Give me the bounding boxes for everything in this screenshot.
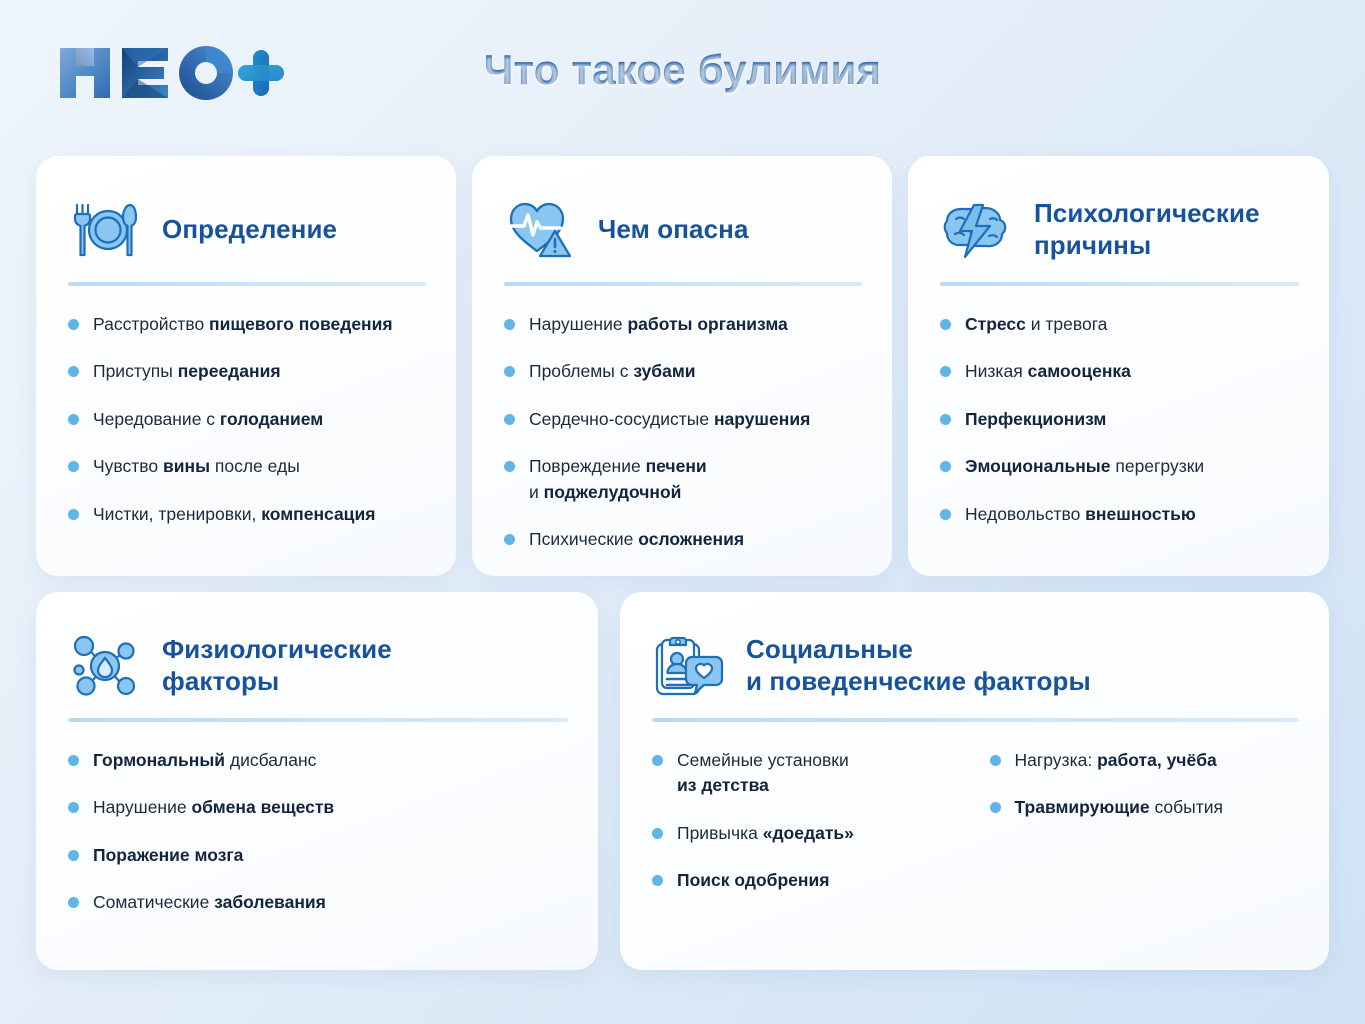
list-item: Перфекционизм [940,407,1303,432]
list-item: Эмоциональные перегрузки [940,454,1303,479]
bullet-dot-icon [990,755,1001,766]
list-item-label: Проблемы с зубами [529,359,696,384]
list-item: Нагрузка: работа, учёба [990,748,1300,773]
bullet-dot-icon [940,319,951,330]
list-item-label: Психические осложнения [529,527,744,552]
bullet-dot-icon [68,414,79,425]
bullet-list: Гормональный дисбалансНарушение обмена в… [36,722,598,916]
bullet-dot-icon [940,414,951,425]
bullet-dot-icon [68,802,79,813]
card-title: Социальныеи поведенческие факторы [746,634,1091,697]
list-item-label: Поиск одобрения [677,868,829,893]
bullet-dot-icon [504,414,515,425]
card-title: Чем опасна [598,214,749,246]
molecule-hormone-icon [68,634,142,698]
list-item-label: Чередование с голоданием [93,407,323,432]
list-item: Поражение мозга [68,843,572,868]
list-item-label: Приступы переедания [93,359,281,384]
list-item-label: Нарушение работы организма [529,312,788,337]
bullet-dot-icon [504,319,515,330]
list-item: Низкая самооценка [940,359,1303,384]
bullet-dot-icon [504,366,515,377]
list-item-label: Нагрузка: работа, учёба [1015,748,1217,773]
list-item: Семейные установкииз детства [652,748,962,799]
list-item-label: Эмоциональные перегрузки [965,454,1204,479]
list-item: Повреждение печении поджелудочной [504,454,866,505]
list-item: Расстройство пищевого поведения [68,312,430,337]
bullet-column-left: Семейные установкииз детстваПривычка «до… [652,748,962,916]
card-psychology: Психологическиепричины Стресс и тревогаН… [908,156,1329,576]
list-item-label: Сердечно-сосудистые нарушения [529,407,810,432]
card-header: Определение [36,156,456,272]
list-item: Проблемы с зубами [504,359,866,384]
list-item-label: Чувство вины после еды [93,454,300,479]
card-social: Социальныеи поведенческие факторы Семейн… [620,592,1329,970]
list-item-label: Недовольство внешностью [965,502,1196,527]
list-item-label: Чистки, тренировки, компенсация [93,502,375,527]
bullet-dot-icon [652,875,663,886]
list-item-label: Низкая самооценка [965,359,1131,384]
card-header: Чем опасна [472,156,892,272]
list-item-label: Расстройство пищевого поведения [93,312,393,337]
bullet-dot-icon [940,461,951,472]
list-item: Стресс и тревога [940,312,1303,337]
list-item: Привычка «доедать» [652,821,962,846]
bullet-dot-icon [652,828,663,839]
bullet-column-right: Нагрузка: работа, учёбаТравмирующие собы… [990,748,1300,916]
bullet-dot-icon [940,366,951,377]
card-title: Психологическиепричины [1034,198,1260,261]
list-item-label: Соматические заболевания [93,890,326,915]
list-item-label: Повреждение печении поджелудочной [529,454,707,505]
bullet-dot-icon [68,366,79,377]
list-item-label: Семейные установкииз детства [677,748,849,799]
bullet-dot-icon [68,755,79,766]
bullet-dot-icon [652,755,663,766]
list-item-label: Травмирующие события [1015,795,1224,820]
list-item-label: Привычка «доедать» [677,821,854,846]
list-item-label: Гормональный дисбаланс [93,748,316,773]
card-header: Социальныеи поведенческие факторы [620,592,1329,708]
bullet-dot-icon [940,509,951,520]
bullet-list: Семейные установкииз детстваПривычка «до… [620,722,1329,916]
card-physiology: Физиологическиефакторы Гормональный дисб… [36,592,598,970]
list-item: Сердечно-сосудистые нарушения [504,407,866,432]
list-item: Чередование с голоданием [68,407,430,432]
list-item-label: Стресс и тревога [965,312,1107,337]
card-header: Психологическиепричины [908,156,1329,272]
brain-lightning-icon [940,198,1014,262]
bullet-list: Стресс и тревогаНизкая самооценкаПерфекц… [908,286,1329,527]
bullet-dot-icon [990,802,1001,813]
bullet-dot-icon [68,509,79,520]
list-item: Гормональный дисбаланс [68,748,572,773]
list-item: Нарушение работы организма [504,312,866,337]
bullet-dot-icon [504,534,515,545]
list-item: Психические осложнения [504,527,866,552]
card-title: Физиологическиефакторы [162,634,392,697]
list-item-label: Поражение мозга [93,843,243,868]
page-title: Что такое булимия [0,46,1365,94]
card-title: Определение [162,214,337,246]
list-item: Приступы переедания [68,359,430,384]
list-item: Недовольство внешностью [940,502,1303,527]
list-item: Соматические заболевания [68,890,572,915]
plate-cutlery-icon [68,198,142,262]
list-item: Нарушение обмена веществ [68,795,572,820]
list-item: Травмирующие события [990,795,1300,820]
bullet-dot-icon [68,319,79,330]
clipboard-person-heart-icon [652,634,726,698]
list-item: Поиск одобрения [652,868,962,893]
bullet-dot-icon [68,897,79,908]
bullet-dot-icon [68,461,79,472]
page-header: Что такое булимия [0,0,1365,140]
card-header: Физиологическиефакторы [36,592,598,708]
list-item: Чистки, тренировки, компенсация [68,502,430,527]
list-item-label: Нарушение обмена веществ [93,795,334,820]
card-definition: Определение Расстройство пищевого поведе… [36,156,456,576]
bullet-list: Расстройство пищевого поведенияПриступы … [36,286,456,527]
bullet-dot-icon [68,850,79,861]
heart-pulse-warning-icon [504,198,578,262]
bullet-list: Нарушение работы организмаПроблемы с зуб… [472,286,892,552]
bullet-dot-icon [504,461,515,472]
card-danger: Чем опасна Нарушение работы организмаПро… [472,156,892,576]
list-item: Чувство вины после еды [68,454,430,479]
list-item-label: Перфекционизм [965,407,1106,432]
